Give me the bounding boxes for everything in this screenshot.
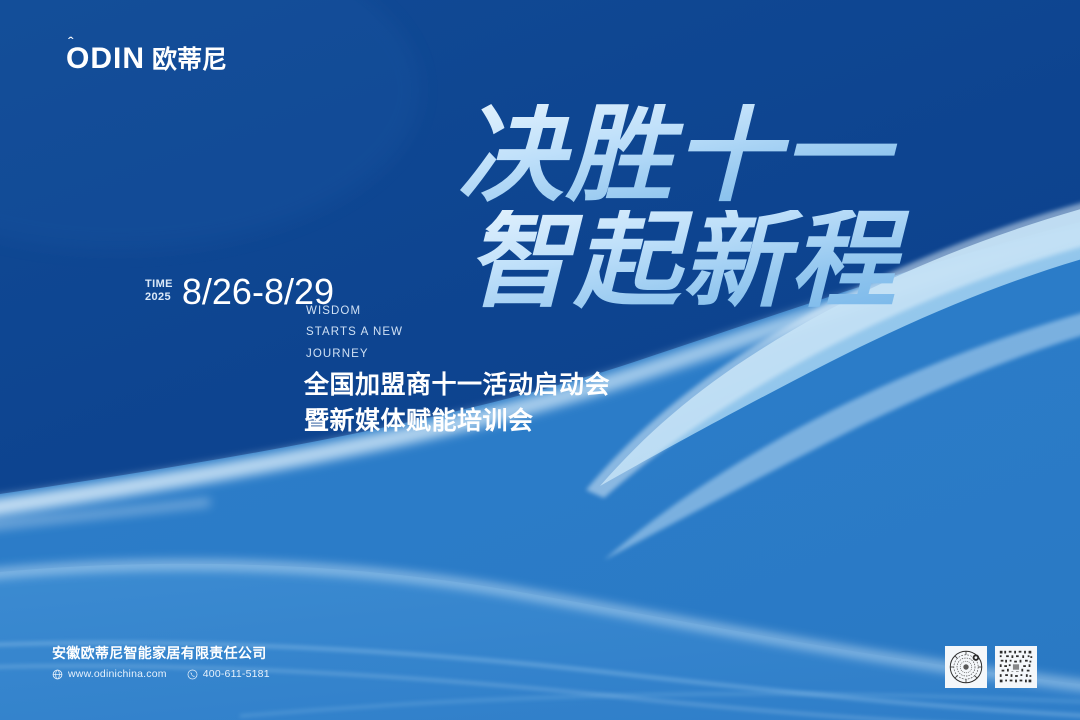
- english-tagline: WISDOM STARTS A NEW JOURNEY: [306, 301, 403, 365]
- logo-circumflex-icon: ˆ: [68, 35, 75, 52]
- globe-icon: [52, 669, 63, 680]
- tagline-line-2: STARTS A NEW: [306, 322, 403, 343]
- footer: 安徽欧蒂尼智能家居有限责任公司 www.odinichina.com 400-6…: [52, 644, 270, 680]
- subtitle-line-1: 全国加盟商十一活动启动会: [304, 368, 610, 404]
- logo-wordmark: ˆ ODIN: [66, 44, 145, 74]
- event-subtitle: 全国加盟商十一活动启动会 暨新媒体赋能培训会: [304, 368, 610, 439]
- wechat-official-qr[interactable]: [945, 646, 987, 688]
- phone-text: 400-611-5181: [203, 668, 270, 680]
- title-line-1: 决胜十一: [458, 104, 910, 204]
- promo-banner: ˆ ODIN 欧蒂尼 决胜十一 智起新程 TIME 2025 8/26-8/29…: [0, 0, 1080, 720]
- company-name: 安徽欧蒂尼智能家居有限责任公司: [52, 644, 270, 662]
- website-item[interactable]: www.odinichina.com: [52, 668, 167, 680]
- contact-row: www.odinichina.com 400-611-5181: [52, 668, 270, 680]
- tagline-line-1: WISDOM: [306, 301, 403, 322]
- time-label-word: TIME: [145, 278, 173, 291]
- wechat-official-qr-icon: [948, 649, 984, 685]
- mini-program-qr[interactable]: [995, 646, 1037, 688]
- time-label: TIME 2025: [145, 278, 173, 307]
- website-text: www.odinichina.com: [68, 668, 167, 680]
- title-line-2: 智起新程: [466, 210, 910, 310]
- phone-item[interactable]: 400-611-5181: [187, 668, 270, 680]
- mini-program-qr-icon: [998, 649, 1034, 685]
- time-label-year: 2025: [145, 291, 173, 304]
- phone-icon: [187, 669, 198, 680]
- logo-chinese-name: 欧蒂尼: [152, 48, 227, 74]
- main-title: 决胜十一 智起新程: [440, 104, 910, 309]
- logo-letters-din: DIN: [90, 42, 145, 75]
- brand-logo: ˆ ODIN 欧蒂尼: [66, 44, 227, 74]
- tagline-line-3: JOURNEY: [306, 344, 403, 365]
- qr-code-group: [945, 646, 1037, 688]
- subtitle-line-2: 暨新媒体赋能培训会: [304, 404, 610, 440]
